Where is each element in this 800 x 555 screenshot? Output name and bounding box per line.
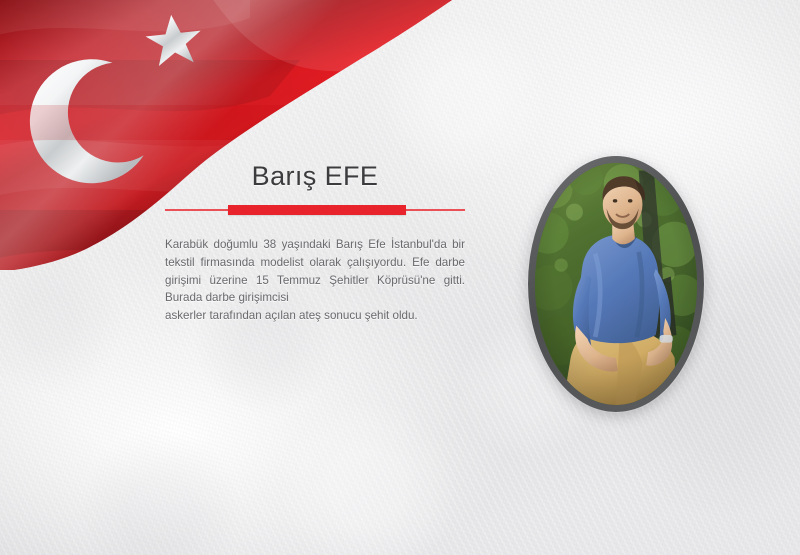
biography-text: Karabük doğumlu 38 yaşındaki Barış Efe İ… (165, 236, 465, 325)
portrait-photo (535, 163, 697, 405)
turkish-flag (0, 0, 460, 270)
biography-paragraph-1: Karabük doğumlu 38 yaşındaki Barış Efe İ… (165, 236, 465, 307)
portrait-frame (528, 156, 704, 412)
biography-paragraph-2: askerler tarafından açılan ateş sonucu ş… (165, 307, 465, 325)
accent-rule-thick-bar (228, 205, 406, 215)
title-accent-rule (165, 205, 465, 216)
memorial-poster: Barış EFE Karabük doğumlu 38 yaşındaki B… (0, 0, 800, 555)
page-title: Barış EFE (165, 163, 465, 190)
